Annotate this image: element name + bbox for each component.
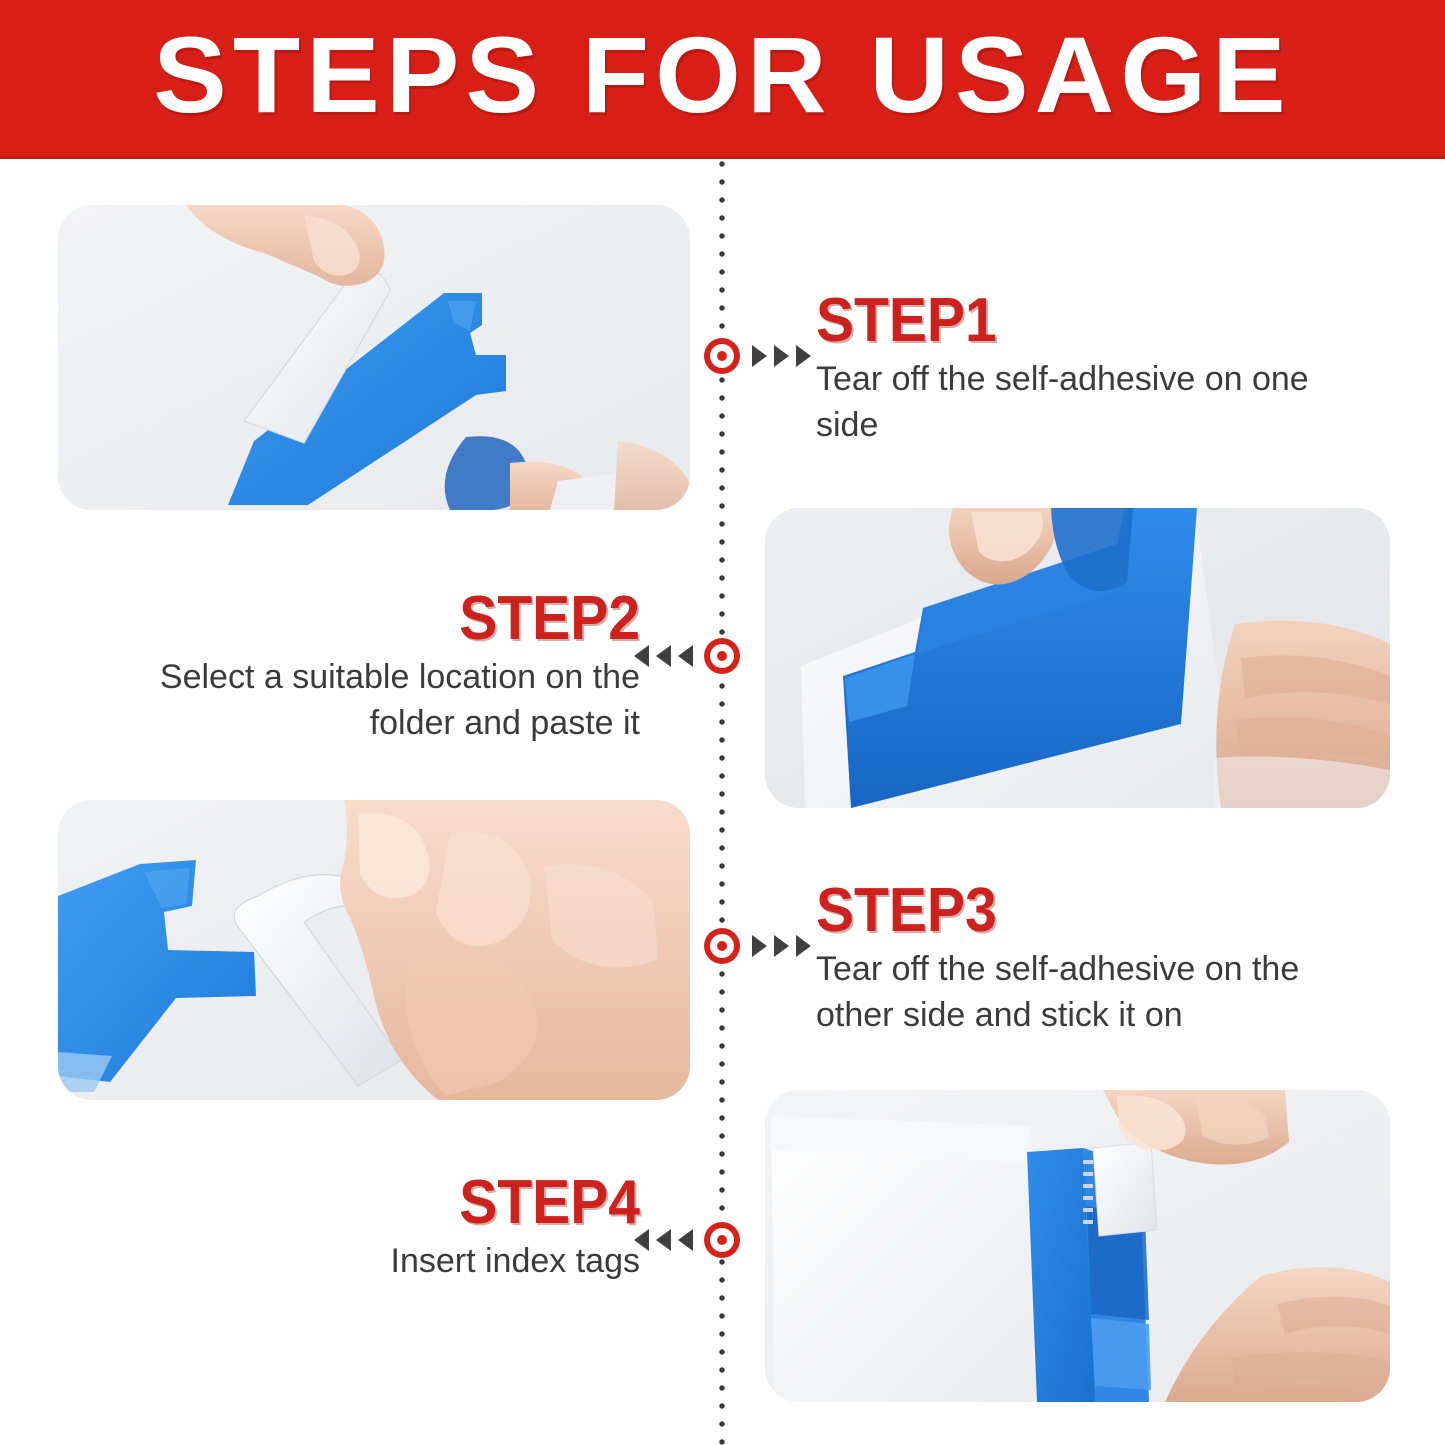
page-title: STEPS FOR USAGE <box>0 10 1445 140</box>
banner-divider <box>0 156 1445 159</box>
triangle-arrow-icon <box>678 1229 693 1251</box>
step-3-heading: STEP3 <box>816 880 1331 942</box>
step-3-text-block: STEP3 Tear off the self-adhesive on the … <box>816 880 1376 1038</box>
step-2-photo <box>765 508 1390 808</box>
triangle-arrow-icon <box>796 345 811 367</box>
triangle-arrow-icon <box>656 1229 671 1251</box>
step-2-marker-icon <box>704 638 740 674</box>
step-4-arrows-icon <box>634 1229 693 1251</box>
step-4-heading: STEP4 <box>116 1172 640 1234</box>
triangle-arrow-icon <box>796 935 811 957</box>
step-1-text-block: STEP1 Tear off the self-adhesive on one … <box>816 290 1376 448</box>
step-1-description: Tear off the self-adhesive on one side <box>816 356 1376 448</box>
step-1-marker-icon <box>704 338 740 374</box>
step-2-description: Select a suitable location on the folder… <box>70 654 640 746</box>
triangle-arrow-icon <box>678 645 693 667</box>
step-3-arrows-icon <box>752 935 811 957</box>
step-3-description: Tear off the self-adhesive on the other … <box>816 946 1376 1038</box>
header-banner: STEPS FOR USAGE <box>0 0 1445 158</box>
step-4-photo <box>765 1090 1390 1402</box>
step-4-description: Insert index tags <box>70 1238 640 1284</box>
step-2-arrows-icon <box>634 645 693 667</box>
triangle-arrow-icon <box>774 935 789 957</box>
triangle-arrow-icon <box>752 345 767 367</box>
step-3-photo <box>58 800 690 1100</box>
step-1-arrows-icon <box>752 345 811 367</box>
step-4-text-block: STEP4 Insert index tags <box>70 1172 640 1284</box>
step-2-heading: STEP2 <box>116 588 640 650</box>
step-1-heading: STEP1 <box>816 290 1331 352</box>
infographic-page: STEPS FOR USAGE <box>0 0 1445 1445</box>
triangle-arrow-icon <box>656 645 671 667</box>
step-1-photo <box>58 205 690 510</box>
triangle-arrow-icon <box>774 345 789 367</box>
triangle-arrow-icon <box>752 935 767 957</box>
step-4-marker-icon <box>704 1222 740 1258</box>
step-2-text-block: STEP2 Select a suitable location on the … <box>70 588 640 746</box>
step-3-marker-icon <box>704 928 740 964</box>
